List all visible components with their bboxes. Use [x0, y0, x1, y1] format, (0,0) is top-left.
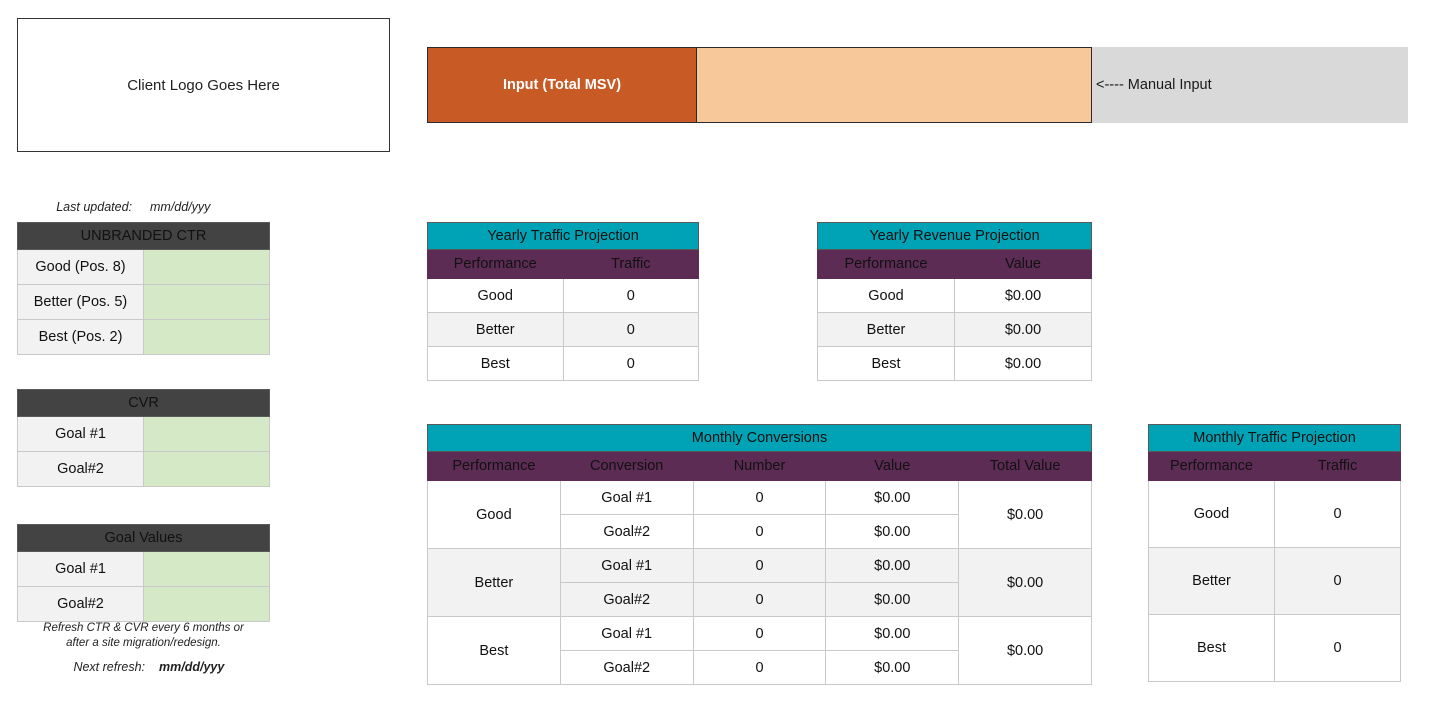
- total-msv-input-bar: Input (Total MSV) <---- Manual Input: [427, 47, 1408, 123]
- goal-row-input[interactable]: [144, 552, 270, 587]
- table-row: Best $0.00: [818, 347, 1092, 381]
- column-header-conversion: Conversion: [560, 452, 693, 481]
- last-updated-row: Last updated: mm/dd/yyy: [17, 200, 270, 214]
- yearly-revenue-value: $0.00: [955, 347, 1092, 381]
- ctr-row-input[interactable]: [144, 250, 270, 285]
- ctr-row-input[interactable]: [144, 285, 270, 320]
- cvr-row-input[interactable]: [144, 417, 270, 452]
- cvr-row-label: Goal #1: [18, 417, 144, 452]
- conv-number: 0: [693, 651, 826, 685]
- column-header-traffic: Traffic: [563, 250, 699, 279]
- monthly-conversions-title: Monthly Conversions: [428, 425, 1092, 452]
- yearly-traffic-value: 0: [563, 347, 699, 381]
- table-row: Goal #1: [18, 552, 270, 587]
- yearly-revenue-performance: Best: [818, 347, 955, 381]
- monthly-traffic-performance: Better: [1149, 548, 1275, 615]
- next-refresh-value[interactable]: mm/dd/yyy: [145, 660, 224, 674]
- column-header-performance: Performance: [428, 452, 561, 481]
- total-msv-label: Input (Total MSV): [427, 47, 697, 123]
- conv-total-value: $0.00: [959, 481, 1092, 549]
- conv-number: 0: [693, 549, 826, 583]
- monthly-traffic-title: Monthly Traffic Projection: [1149, 425, 1401, 452]
- cvr-row-label: Goal#2: [18, 452, 144, 487]
- conv-total-value: $0.00: [959, 549, 1092, 617]
- yearly-traffic-performance: Good: [428, 279, 564, 313]
- conv-value: $0.00: [826, 617, 959, 651]
- cvr-row-input[interactable]: [144, 452, 270, 487]
- yearly-traffic-performance: Better: [428, 313, 564, 347]
- goal-values-title: Goal Values: [18, 525, 270, 552]
- column-header-number: Number: [693, 452, 826, 481]
- table-row: Best 0: [428, 347, 699, 381]
- table-row: Better $0.00: [818, 313, 1092, 347]
- table-row: Best (Pos. 2): [18, 320, 270, 355]
- yearly-traffic-value: 0: [563, 313, 699, 347]
- conv-group-performance: Good: [428, 481, 561, 549]
- total-msv-input[interactable]: [697, 47, 1092, 123]
- conv-number: 0: [693, 481, 826, 515]
- table-row: Good $0.00: [818, 279, 1092, 313]
- yearly-revenue-performance: Better: [818, 313, 955, 347]
- conv-value: $0.00: [826, 481, 959, 515]
- goal-row-label: Goal #1: [18, 552, 144, 587]
- yearly-revenue-title: Yearly Revenue Projection: [818, 223, 1092, 250]
- table-row: Goal#2: [18, 587, 270, 622]
- table-row: Goal #1: [18, 417, 270, 452]
- conv-value: $0.00: [826, 651, 959, 685]
- column-header-traffic: Traffic: [1275, 452, 1401, 481]
- conv-goal-label: Goal #1: [560, 481, 693, 515]
- ctr-row-label: Best (Pos. 2): [18, 320, 144, 355]
- cvr-title: CVR: [18, 390, 270, 417]
- goal-row-input[interactable]: [144, 587, 270, 622]
- monthly-traffic-value: 0: [1275, 615, 1401, 682]
- table-row: Good 0: [428, 279, 699, 313]
- conv-group-performance: Better: [428, 549, 561, 617]
- table-row: Best 0: [1149, 615, 1401, 682]
- conv-value: $0.00: [826, 515, 959, 549]
- last-updated-label: Last updated:: [17, 200, 132, 214]
- yearly-revenue-value: $0.00: [955, 313, 1092, 347]
- manual-input-note: <---- Manual Input: [1092, 47, 1408, 123]
- ctr-row-label: Good (Pos. 8): [18, 250, 144, 285]
- unbranded-ctr-table: UNBRANDED CTR Good (Pos. 8) Better (Pos.…: [17, 222, 270, 355]
- ctr-row-label: Better (Pos. 5): [18, 285, 144, 320]
- table-row: Better Goal #1 0 $0.00 $0.00: [428, 549, 1092, 583]
- column-header-total-value: Total Value: [959, 452, 1092, 481]
- next-refresh-label: Next refresh:: [17, 660, 145, 674]
- table-row: Better 0: [1149, 548, 1401, 615]
- refresh-note-line1: Refresh CTR & CVR every 6 months or: [17, 621, 270, 636]
- next-refresh-row: Next refresh: mm/dd/yyy: [17, 660, 270, 674]
- ctr-row-input[interactable]: [144, 320, 270, 355]
- client-logo-text: Client Logo Goes Here: [127, 77, 280, 94]
- conv-group-performance: Best: [428, 617, 561, 685]
- yearly-revenue-performance: Good: [818, 279, 955, 313]
- goal-row-label: Goal#2: [18, 587, 144, 622]
- monthly-traffic-performance: Best: [1149, 615, 1275, 682]
- table-row: Goal#2: [18, 452, 270, 487]
- last-updated-value[interactable]: mm/dd/yyy: [132, 200, 210, 214]
- conv-value: $0.00: [826, 583, 959, 617]
- conv-goal-label: Goal#2: [560, 583, 693, 617]
- unbranded-ctr-title: UNBRANDED CTR: [18, 223, 270, 250]
- column-header-value: Value: [955, 250, 1092, 279]
- cvr-table: CVR Goal #1 Goal#2: [17, 389, 270, 487]
- conv-number: 0: [693, 515, 826, 549]
- yearly-traffic-performance: Best: [428, 347, 564, 381]
- yearly-traffic-title: Yearly Traffic Projection: [428, 223, 699, 250]
- column-header-performance: Performance: [818, 250, 955, 279]
- conv-number: 0: [693, 583, 826, 617]
- column-header-value: Value: [826, 452, 959, 481]
- refresh-note-line2: after a site migration/redesign.: [17, 636, 270, 651]
- monthly-traffic-projection-table: Monthly Traffic Projection Performance T…: [1148, 424, 1401, 682]
- monthly-conversions-table: Monthly Conversions Performance Conversi…: [427, 424, 1092, 685]
- conv-value: $0.00: [826, 549, 959, 583]
- yearly-revenue-projection-table: Yearly Revenue Projection Performance Va…: [817, 222, 1092, 381]
- client-logo-placeholder: Client Logo Goes Here: [17, 18, 390, 152]
- conv-goal-label: Goal#2: [560, 651, 693, 685]
- monthly-traffic-value: 0: [1275, 548, 1401, 615]
- column-header-performance: Performance: [1149, 452, 1275, 481]
- column-header-performance: Performance: [428, 250, 564, 279]
- monthly-traffic-performance: Good: [1149, 481, 1275, 548]
- goal-values-table: Goal Values Goal #1 Goal#2: [17, 524, 270, 622]
- conv-goal-label: Goal#2: [560, 515, 693, 549]
- conv-goal-label: Goal #1: [560, 549, 693, 583]
- yearly-revenue-value: $0.00: [955, 279, 1092, 313]
- yearly-traffic-value: 0: [563, 279, 699, 313]
- table-row: Better 0: [428, 313, 699, 347]
- refresh-instructions: Refresh CTR & CVR every 6 months or afte…: [17, 621, 270, 651]
- table-row: Good Goal #1 0 $0.00 $0.00: [428, 481, 1092, 515]
- table-row: Best Goal #1 0 $0.00 $0.00: [428, 617, 1092, 651]
- table-row: Good 0: [1149, 481, 1401, 548]
- yearly-traffic-projection-table: Yearly Traffic Projection Performance Tr…: [427, 222, 699, 381]
- conv-total-value: $0.00: [959, 617, 1092, 685]
- conv-goal-label: Goal #1: [560, 617, 693, 651]
- monthly-traffic-value: 0: [1275, 481, 1401, 548]
- table-row: Better (Pos. 5): [18, 285, 270, 320]
- conv-number: 0: [693, 617, 826, 651]
- table-row: Good (Pos. 8): [18, 250, 270, 285]
